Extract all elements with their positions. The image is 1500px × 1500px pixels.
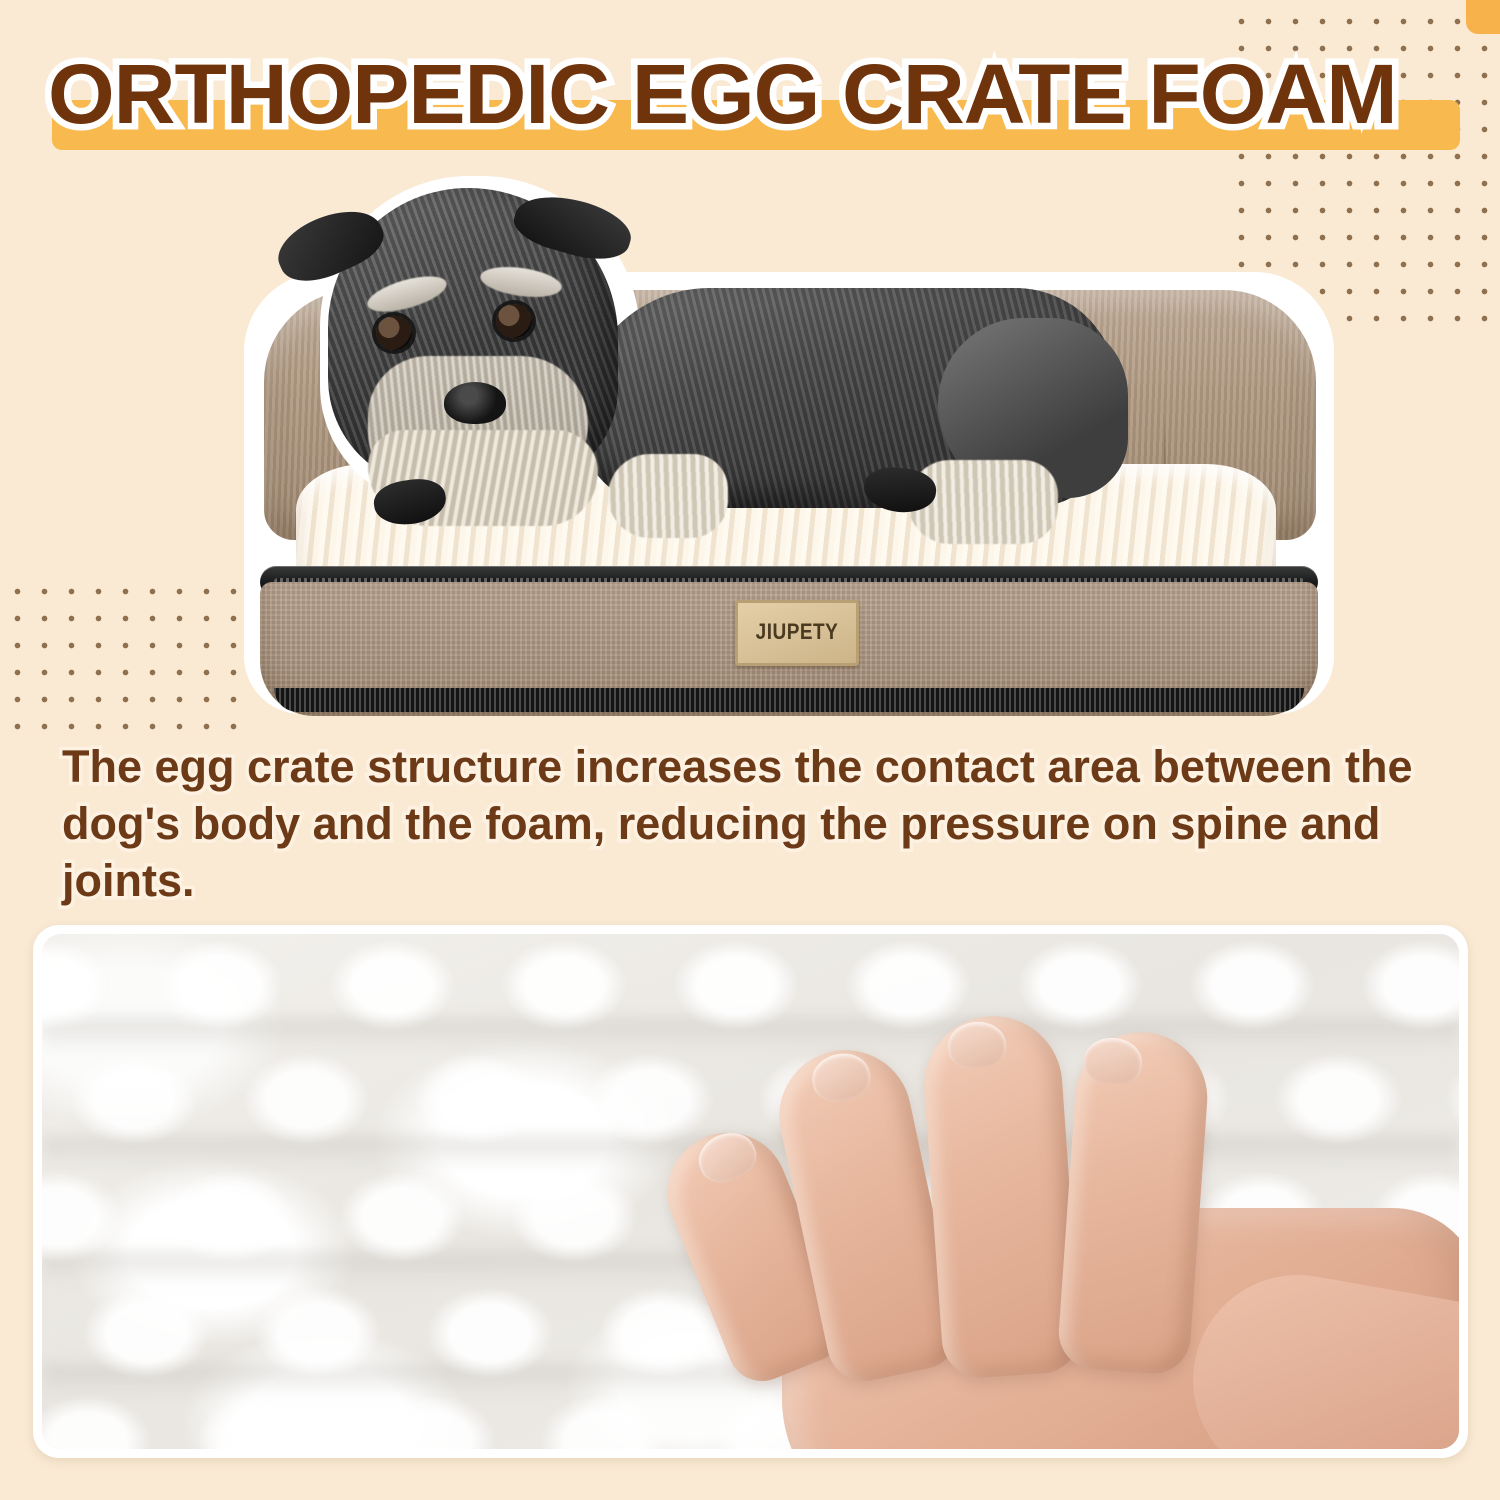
foam-detail-image [42,934,1459,1449]
hero-sticker-outline: JIUPETY [238,168,1338,720]
dog-eye-right [496,304,532,338]
dog-photo [248,168,1128,548]
description-text: The egg crate structure increases the co… [62,738,1462,909]
foam-detail-panel [33,925,1468,1458]
page-title: ORTHOPEDIC EGG CRATE FOAM [48,42,1496,146]
infographic-page: ORTHOPEDIC EGG CRATE FOAM [0,0,1500,1500]
brand-label-text: JIUPETY [756,620,839,646]
dog-fur-tuft [608,454,728,538]
brand-label-patch: JIUPETY [735,600,859,666]
hero-product-image: JIUPETY [238,168,1338,720]
headline-block: ORTHOPEDIC EGG CRATE FOAM [48,42,1468,154]
hand-finger [1056,1028,1211,1376]
hand-finger [920,1012,1083,1381]
dog-eye-left [376,316,412,350]
bed-mesh-bottom-strip [274,688,1304,712]
dog-nose [444,382,506,424]
dot-pattern-left [4,578,240,738]
hand-pressing-foam [632,958,1459,1449]
corner-accent-tab [1466,0,1500,34]
